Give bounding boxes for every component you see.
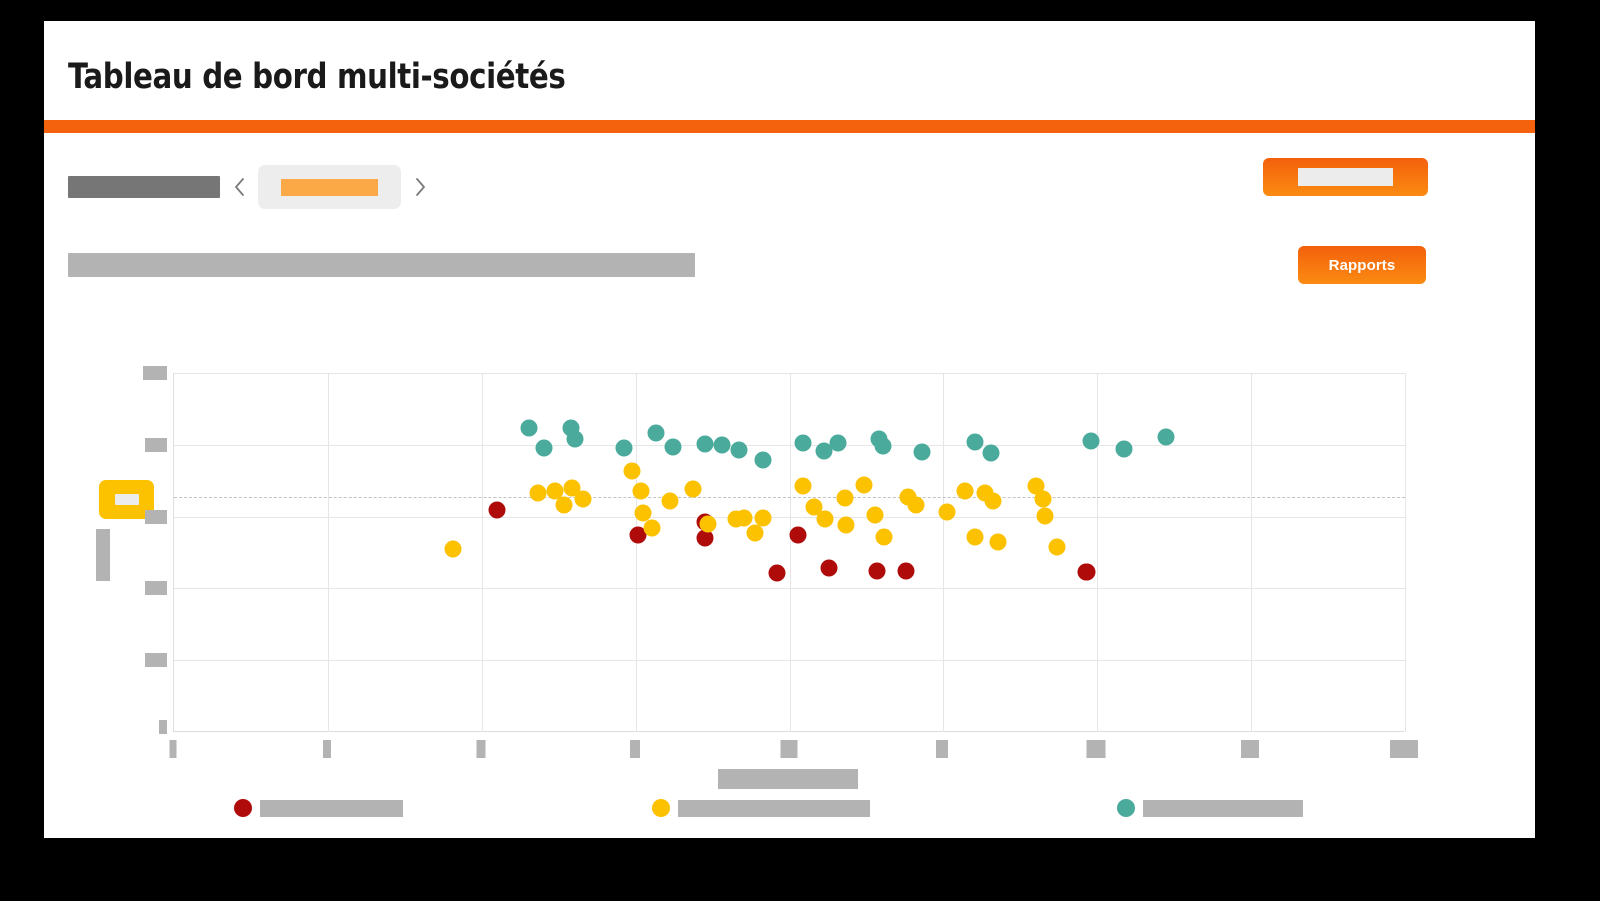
chevron-left-icon[interactable] [224,172,254,202]
page-title: Tableau de bord multi-sociétés [68,57,565,97]
y-axis-tick-label-redacted [145,510,167,524]
primary-action-label-redacted [1298,168,1393,186]
entity-period-nav [68,165,439,209]
legend-label-redacted [678,800,870,817]
reports-button[interactable]: Rapports [1298,246,1426,284]
section-subtitle-redacted [68,253,695,277]
y-axis-tick-label-redacted [143,366,167,380]
primary-action-button[interactable] [1263,158,1428,196]
scatter-point-yellow[interactable] [530,485,547,502]
chevron-right-icon[interactable] [405,172,435,202]
x-axis-title-redacted [718,769,858,789]
scatter-point-yellow[interactable] [747,524,764,541]
scatter-point-yellow[interactable] [574,491,591,508]
gridline-vertical [482,373,483,732]
y-axis-tick-label-redacted [145,653,167,667]
scatter-point-yellow[interactable] [984,493,1001,510]
scatter-point-teal[interactable] [520,419,537,436]
scatter-point-teal[interactable] [1083,432,1100,449]
plot-area [173,373,1404,732]
scatter-point-teal[interactable] [697,436,714,453]
scatter-point-yellow[interactable] [938,504,955,521]
x-axis-tick-label-redacted [476,740,485,758]
scatter-point-yellow[interactable] [555,497,572,514]
scatter-point-yellow[interactable] [1034,491,1051,508]
legend-label-redacted [260,800,403,817]
scatter-point-yellow[interactable] [838,516,855,533]
scatter-point-yellow[interactable] [967,528,984,545]
scatter-point-yellow[interactable] [856,477,873,494]
x-axis-tick-label-redacted [936,740,948,758]
gridline-vertical [636,373,637,732]
header-accent-rule [44,120,1535,133]
legend-swatch-yellow [652,799,670,817]
scatter-point-red[interactable] [489,501,506,518]
x-axis-tick-label-redacted [323,740,331,758]
scatter-point-yellow[interactable] [624,463,641,480]
y-axis-tick-label-redacted [159,720,167,734]
scatter-point-yellow[interactable] [685,481,702,498]
legend-label-redacted [1143,800,1303,817]
period-value-redacted [281,179,378,196]
scatter-point-teal[interactable] [754,452,771,469]
scatter-point-teal[interactable] [731,442,748,459]
gridline-vertical [1405,373,1406,732]
x-axis-tick-label-redacted [630,740,640,758]
x-axis-tick-label-redacted [780,740,797,758]
scatter-point-yellow[interactable] [644,519,661,536]
scatter-chart [44,321,1535,838]
scatter-point-teal[interactable] [714,437,731,454]
scatter-point-teal[interactable] [1158,429,1175,446]
legend-item[interactable] [652,799,870,817]
scatter-point-yellow[interactable] [445,540,462,557]
scatter-point-red[interactable] [898,562,915,579]
legend-item[interactable] [234,799,403,817]
gridline-vertical [790,373,791,732]
scatter-point-red[interactable] [868,562,885,579]
scatter-point-yellow[interactable] [1037,508,1054,525]
legend-swatch-red [234,799,252,817]
gridline-vertical [328,373,329,732]
scatter-point-teal[interactable] [795,435,812,452]
scatter-point-yellow[interactable] [908,497,925,514]
scatter-point-teal[interactable] [829,435,846,452]
x-axis-tick-labels [173,740,1404,762]
scatter-point-teal[interactable] [966,433,983,450]
scatter-point-yellow[interactable] [867,507,884,524]
scatter-point-teal[interactable] [1116,441,1133,458]
scatter-point-teal[interactable] [536,439,553,456]
scatter-point-yellow[interactable] [699,515,716,532]
chart-legend [44,799,1535,823]
dashboard-window: Tableau de bord multi-sociétés Rapports [44,21,1535,838]
legend-item[interactable] [1117,799,1303,817]
entity-name-redacted [68,176,220,198]
gridline-vertical [943,373,944,732]
scatter-point-yellow[interactable] [836,490,853,507]
scatter-point-yellow[interactable] [876,528,893,545]
scatter-point-teal[interactable] [616,439,633,456]
scatter-point-yellow[interactable] [662,493,679,510]
y-axis-tick-label-redacted [145,581,167,595]
scatter-point-red[interactable] [821,559,838,576]
scatter-point-teal[interactable] [647,425,664,442]
scatter-point-yellow[interactable] [1049,538,1066,555]
gridline-vertical [1251,373,1252,732]
scatter-point-red[interactable] [790,526,807,543]
scatter-point-teal[interactable] [566,431,583,448]
scatter-point-yellow[interactable] [755,509,772,526]
y-axis-tick-labels [44,373,167,732]
scatter-point-yellow[interactable] [816,510,833,527]
scatter-point-yellow[interactable] [989,533,1006,550]
scatter-point-teal[interactable] [875,437,892,454]
legend-swatch-teal [1117,799,1135,817]
period-selector[interactable] [258,165,401,209]
scatter-point-yellow[interactable] [632,483,649,500]
x-axis-tick-label-redacted [170,740,177,758]
y-axis-tick-label-redacted [145,438,167,452]
scatter-point-teal[interactable] [983,445,1000,462]
x-axis-tick-label-redacted [1241,740,1259,758]
scatter-point-red[interactable] [1079,563,1096,580]
x-axis-tick-label-redacted [1390,740,1418,758]
scatter-point-red[interactable] [769,564,786,581]
scatter-point-yellow[interactable] [735,509,752,526]
scatter-point-teal[interactable] [914,444,931,461]
scatter-point-teal[interactable] [664,438,681,455]
scatter-point-yellow[interactable] [957,483,974,500]
reference-line [174,497,1405,498]
scatter-point-yellow[interactable] [795,478,812,495]
x-axis-tick-label-redacted [1087,740,1106,758]
gridline-vertical [1097,373,1098,732]
